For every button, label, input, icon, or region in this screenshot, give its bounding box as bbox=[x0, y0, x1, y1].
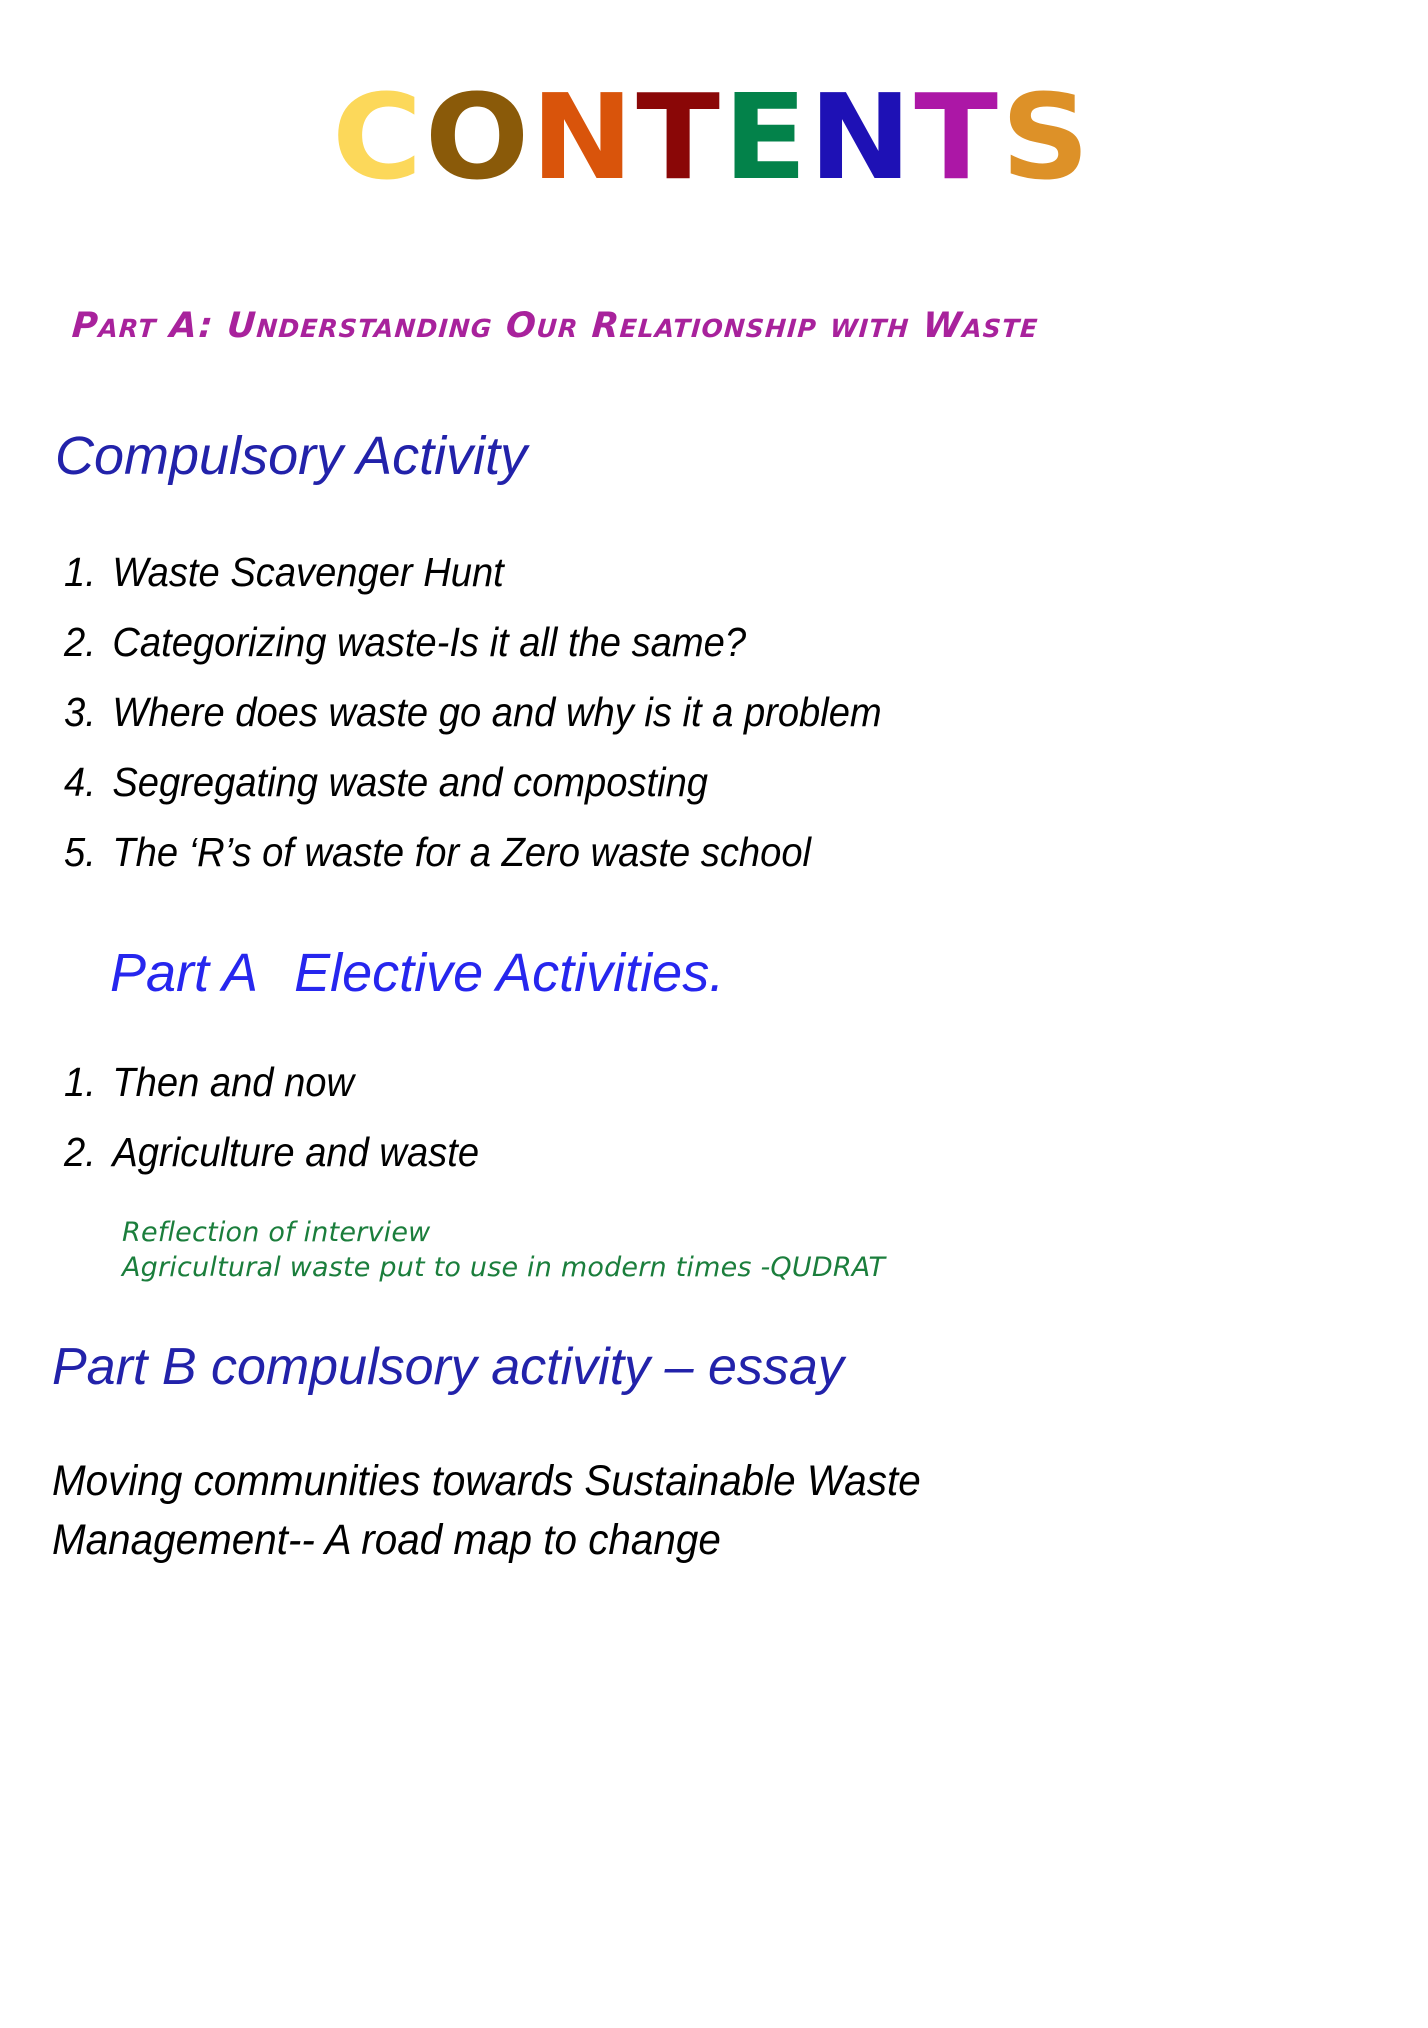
title-letter-5: E bbox=[723, 78, 813, 196]
elective-list-item-label: Agriculture and waste bbox=[112, 1132, 479, 1173]
heading-part-b: Part B compulsory activity – essay bbox=[52, 1340, 844, 1395]
title-letter-6: N bbox=[809, 78, 918, 196]
compulsory-list-item-number: 1. bbox=[64, 552, 112, 593]
elective-list-item: 2.Agriculture and waste bbox=[64, 1132, 479, 1173]
compulsory-list-item-number: 3. bbox=[64, 692, 112, 733]
heading-compulsory-activity: Compulsory Activity bbox=[55, 428, 527, 485]
compulsory-list-item-label: Segregating waste and composting bbox=[112, 762, 708, 803]
compulsory-activity-list: 1.Waste Scavenger Hunt2.Categorizing was… bbox=[64, 552, 943, 902]
compulsory-list-item-label: Categorizing waste-Is it all the same? bbox=[112, 622, 746, 663]
title-letter-2: O bbox=[425, 78, 536, 196]
elective-list-item-number: 2. bbox=[64, 1132, 112, 1173]
essay-line-2: Management-- A road map to change bbox=[52, 1511, 1133, 1570]
elective-list-item-label: Then and now bbox=[112, 1062, 354, 1103]
compulsory-list-item: 1.Waste Scavenger Hunt bbox=[64, 552, 882, 593]
part-a-subtitle: Part A: Understanding Our Relationship w… bbox=[71, 306, 1374, 346]
title-letter-4: T bbox=[636, 78, 726, 196]
heading-part-a-elective: Part AElective Activities. bbox=[110, 945, 724, 1002]
compulsory-list-item-number: 2. bbox=[64, 622, 112, 663]
heading-part-a-label: Part A bbox=[110, 943, 258, 1003]
page-title: CONTENTS bbox=[0, 78, 1428, 196]
essay-line-1: Moving communities towards Sustainable W… bbox=[52, 1452, 1133, 1511]
elective-note-line-1: Reflection of interview bbox=[122, 1216, 885, 1251]
title-letter-3: N bbox=[531, 78, 640, 196]
title-letter-8: S bbox=[1001, 78, 1096, 196]
elective-list-item: 1.Then and now bbox=[64, 1062, 479, 1103]
compulsory-list-item-number: 4. bbox=[64, 762, 112, 803]
elective-activity-list: 1.Then and now2.Agriculture and waste bbox=[64, 1062, 510, 1202]
document-page: CONTENTS Part A: Understanding Our Relat… bbox=[0, 0, 1428, 2028]
title-letter-1: C bbox=[333, 78, 429, 196]
compulsory-list-item: 4.Segregating waste and composting bbox=[64, 762, 882, 803]
heading-elective-label: Elective Activities. bbox=[294, 943, 724, 1003]
compulsory-list-item-label: Waste Scavenger Hunt bbox=[112, 552, 503, 593]
essay-paragraph: Moving communities towards Sustainable W… bbox=[52, 1452, 1202, 1571]
elective-note-line-2: Agricultural waste put to use in modern … bbox=[122, 1251, 885, 1286]
compulsory-list-item-label: Where does waste go and why is it a prob… bbox=[112, 692, 881, 733]
compulsory-list-item-label: The ‘R’s of waste for a Zero waste schoo… bbox=[112, 832, 811, 873]
elective-notes: Reflection of interviewAgricultural wast… bbox=[122, 1216, 885, 1285]
compulsory-list-item: 3.Where does waste go and why is it a pr… bbox=[64, 692, 882, 733]
elective-list-item-number: 1. bbox=[64, 1062, 112, 1103]
compulsory-list-item-number: 5. bbox=[64, 832, 112, 873]
compulsory-list-item: 5.The ‘R’s of waste for a Zero waste sch… bbox=[64, 832, 882, 873]
compulsory-list-item: 2.Categorizing waste-Is it all the same? bbox=[64, 622, 882, 663]
title-letter-7: T bbox=[914, 78, 1004, 196]
